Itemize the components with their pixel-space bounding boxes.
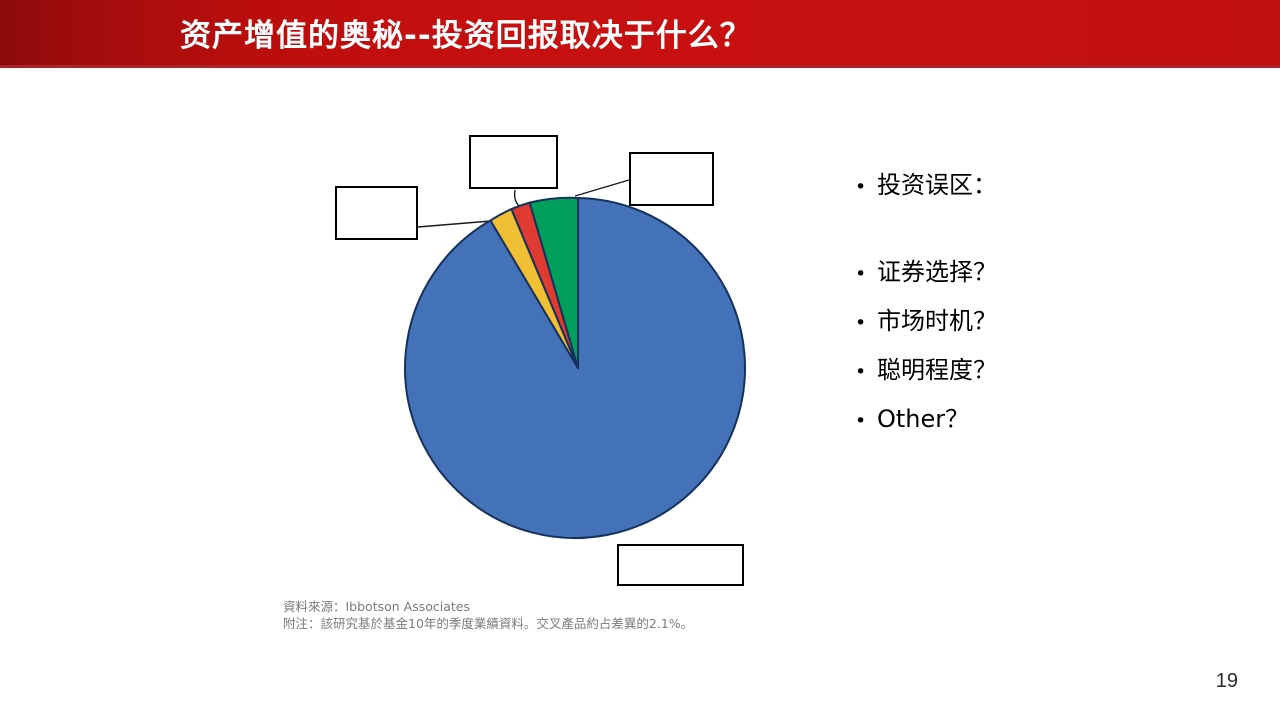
list-item: • 证券选择？	[855, 252, 1235, 287]
callout-box-other-label[interactable]	[335, 186, 418, 240]
callout-box-asset-allocation-label[interactable]	[617, 544, 744, 586]
list-item: • 市场时机？	[855, 301, 1235, 336]
bullet-dot-icon: •	[855, 178, 877, 197]
pie-slices	[405, 198, 745, 538]
bullet-dot-icon: •	[855, 265, 877, 284]
chart-footnote: 資料來源：Ibbotson Associates 附注：該研究基於基金10年的季…	[283, 598, 693, 632]
bullet-label: 聪明程度？	[877, 350, 997, 385]
bullet-label: Other？	[877, 399, 969, 434]
bullet-dot-icon: •	[855, 314, 877, 333]
callout-box-security-selection-label[interactable]	[629, 152, 714, 206]
bullet-dot-icon: •	[855, 412, 877, 431]
list-item: • 投资误区：	[855, 165, 1235, 200]
list-item: • Other？	[855, 399, 1235, 434]
footnote-source: 資料來源：Ibbotson Associates	[283, 598, 693, 615]
bullet-label: 证券选择？	[877, 252, 997, 287]
bullet-label: 市场时机？	[877, 301, 997, 336]
bullet-dot-icon: •	[855, 363, 877, 382]
bullet-list: • 投资误区： • 证券选择？ • 市场时机？ • 聪明程度？ • Other？	[855, 165, 1235, 448]
page-title: 资产增值的奥秘--投资回报取决于什么？	[180, 10, 752, 55]
leader-line-security-selection	[575, 180, 629, 196]
footnote-note: 附注：該研究基於基金10年的季度業績資料。交叉產品約占差異的2.1%。	[283, 615, 693, 632]
callout-box-market-timing-label[interactable]	[469, 135, 558, 189]
list-item: • 聪明程度？	[855, 350, 1235, 385]
page-number: 19	[1216, 670, 1238, 693]
slide-title-bar: 资产增值的奥秘--投资回报取决于什么？	[0, 0, 1280, 68]
bullet-label: 投资误区：	[877, 165, 997, 200]
